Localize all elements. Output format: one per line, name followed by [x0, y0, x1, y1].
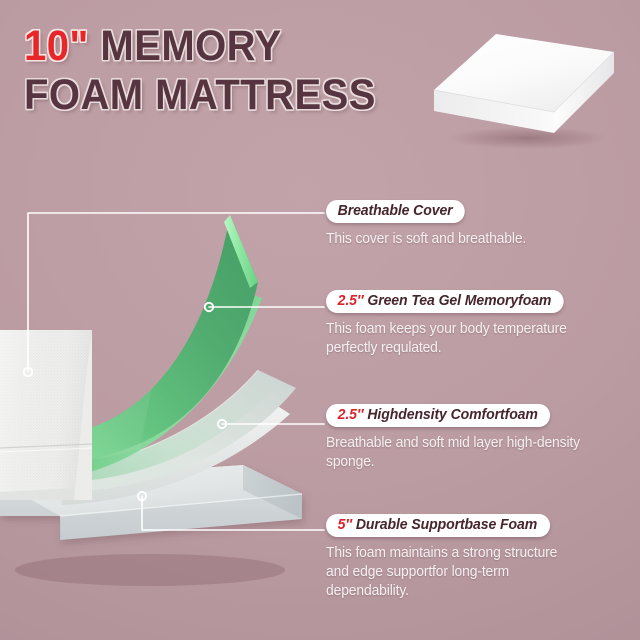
callout-pill-support[interactable]: 5″ Durable Supportbase Foam [326, 514, 550, 537]
title-size-value: 10" [24, 22, 89, 70]
callout-durable-supportbase-foam: 5″ Durable Supportbase Foam This foam ma… [326, 514, 594, 601]
callout-pill-comfort[interactable]: 2.5″ Highdensity Comfortfoam [326, 404, 550, 427]
page-title: 10" MEMORY FOAM MATTRESS [24, 22, 434, 120]
callout-size-support: 5″ [338, 517, 352, 533]
layer-breathable-cover [0, 330, 92, 500]
callout-size-gel: 2.5″ [338, 293, 364, 309]
callout-description-cover: This cover is soft and breathable. [326, 230, 583, 249]
hero-shadow [448, 127, 608, 149]
callout-label-cover: Breathable Cover [338, 203, 453, 219]
cutaway-ground-shadow [15, 554, 285, 586]
callout-description-support: This foam maintains a strong structure a… [326, 544, 583, 601]
title-line-1-rest: MEMORY [89, 22, 282, 70]
callout-description-gel: This foam keeps your body temperature pe… [326, 320, 583, 358]
mattress-layer-cutaway-diagram [0, 200, 340, 600]
infographic-page: 10" MEMORY FOAM MATTRESS [0, 0, 640, 640]
callout-label-comfort: Highdensity Comfortfoam [367, 407, 537, 423]
title-line-2: FOAM MATTRESS [24, 71, 405, 120]
callout-breathable-cover: Breathable Cover This cover is soft and … [326, 200, 594, 249]
callout-pill-cover[interactable]: Breathable Cover [326, 200, 465, 223]
title-line-1: 10" MEMORY [24, 22, 405, 71]
callout-pill-gel[interactable]: 2.5″ Green Tea Gel Memoryfoam [326, 290, 564, 313]
callout-label-support: Durable Supportbase Foam [356, 517, 537, 533]
callout-size-comfort: 2.5″ [338, 407, 364, 423]
callout-description-comfort: Breathable and soft mid layer high-densi… [326, 434, 583, 472]
memory-foam-mattress-product-photo [428, 28, 620, 150]
callout-green-tea-gel-memoryfoam: 2.5″ Green Tea Gel Memoryfoam This foam … [326, 290, 594, 358]
callout-highdensity-comfortfoam: 2.5″ Highdensity Comfortfoam Breathable … [326, 404, 594, 472]
callout-label-gel: Green Tea Gel Memoryfoam [367, 293, 551, 309]
